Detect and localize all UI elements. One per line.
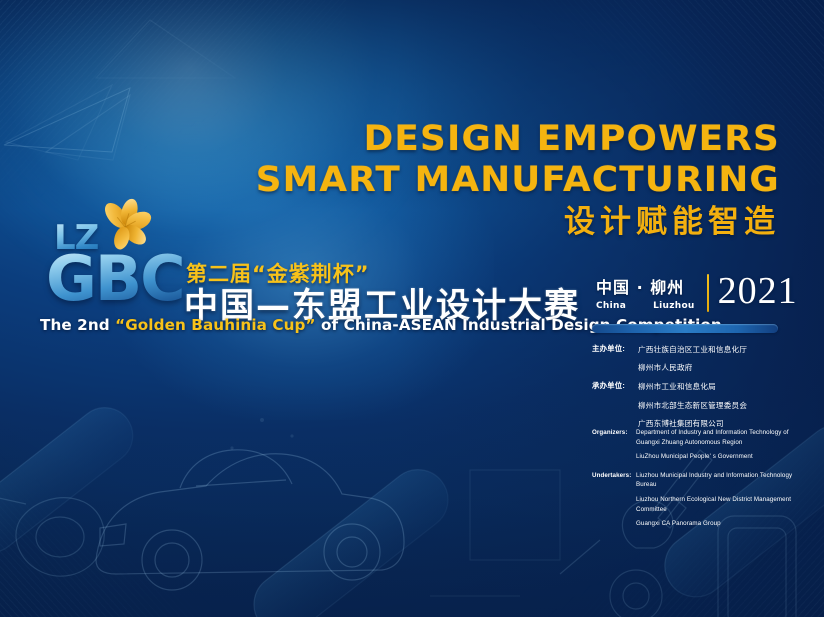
headline: DESIGN EMPOWERS SMART MANUFACTURING 设计赋能… [266, 122, 780, 238]
credits-cn-organizer-label: 主办单位: [592, 342, 638, 375]
credits-en-undertaker-values: Liuzhou Municipal Industry and Informati… [636, 471, 802, 534]
headline-line-2: SMART MANUFACTURING [256, 163, 780, 198]
place-en: China Liuzhou [596, 301, 695, 311]
credits-en-organizer-item: LiuZhou Municipal People' s Government [636, 452, 802, 462]
credits-cn-undertaker-values: 柳州市工业和信息化局 柳州市北部生态新区管理委员会 广西东博社集团有限公司 [638, 379, 798, 431]
competition-logo: LZ GBC [40, 196, 195, 316]
credits-cn-organizers-row: 主办单位: 广西壮族自治区工业和信息化厅 柳州市人民政府 [592, 342, 798, 375]
credits-en-undertaker-item: Liuzhou Municipal Industry and Informati… [636, 471, 802, 490]
credits-cn-organizer-item: 柳州市人民政府 [638, 360, 798, 375]
credits-en-undertaker-label: Undertakers: [592, 471, 636, 534]
credits-cn: 主办单位: 广西壮族自治区工业和信息化厅 柳州市人民政府 承办单位: 柳州市工业… [592, 342, 798, 431]
place-and-year: 中国 · 柳州 China Liuzhou 2021 [596, 274, 798, 312]
credits-en-undertaker-item: Guangxi CA Panorama Group [636, 519, 802, 529]
place-year-divider [707, 274, 709, 312]
credits-cn-undertakers-row: 承办单位: 柳州市工业和信息化局 柳州市北部生态新区管理委员会 广西东博社集团有… [592, 379, 798, 431]
credits-cn-undertaker-label: 承办单位: [592, 379, 638, 431]
headline-line-1: DESIGN EMPOWERS [256, 122, 780, 157]
credits-cn-undertaker-item: 柳州市工业和信息化局 [638, 379, 798, 394]
event-year: 2021 [718, 274, 798, 309]
divider-bar [592, 324, 778, 333]
credits-en-organizer-item: Department of Industry and Information T… [636, 428, 802, 447]
credits-en-organizers-row: Organizers: Department of Industry and I… [592, 428, 802, 467]
place-en-country: China [596, 301, 626, 311]
credits-en-undertakers-row: Undertakers: Liuzhou Municipal Industry … [592, 471, 802, 534]
poster-canvas: DESIGN EMPOWERS SMART MANUFACTURING 设计赋能… [0, 0, 824, 617]
credits-en-organizer-values: Department of Industry and Information T… [636, 428, 802, 467]
title-en-gold: “Golden Bauhinia Cup” [115, 316, 315, 334]
credits-en-organizer-label: Organizers: [592, 428, 636, 467]
place-cn: 中国 · 柳州 [596, 274, 695, 298]
title-en-prefix: The 2nd [40, 316, 115, 334]
credits-cn-undertaker-item: 柳州市北部生态新区管理委员会 [638, 398, 798, 413]
place-block: 中国 · 柳州 China Liuzhou [596, 274, 707, 311]
credits-en: Organizers: Department of Industry and I… [592, 428, 802, 534]
credits-en-undertaker-item: Liuzhou Northern Ecological New District… [636, 495, 802, 514]
credits-cn-organizer-values: 广西壮族自治区工业和信息化厅 柳州市人民政府 [638, 342, 798, 375]
headline-line-3-cn: 设计赋能智造 [266, 207, 780, 238]
place-en-city: Liuzhou [653, 301, 695, 311]
credits-cn-organizer-item: 广西壮族自治区工业和信息化厅 [638, 342, 798, 357]
logo-mark-gbc: GBC [46, 242, 184, 315]
